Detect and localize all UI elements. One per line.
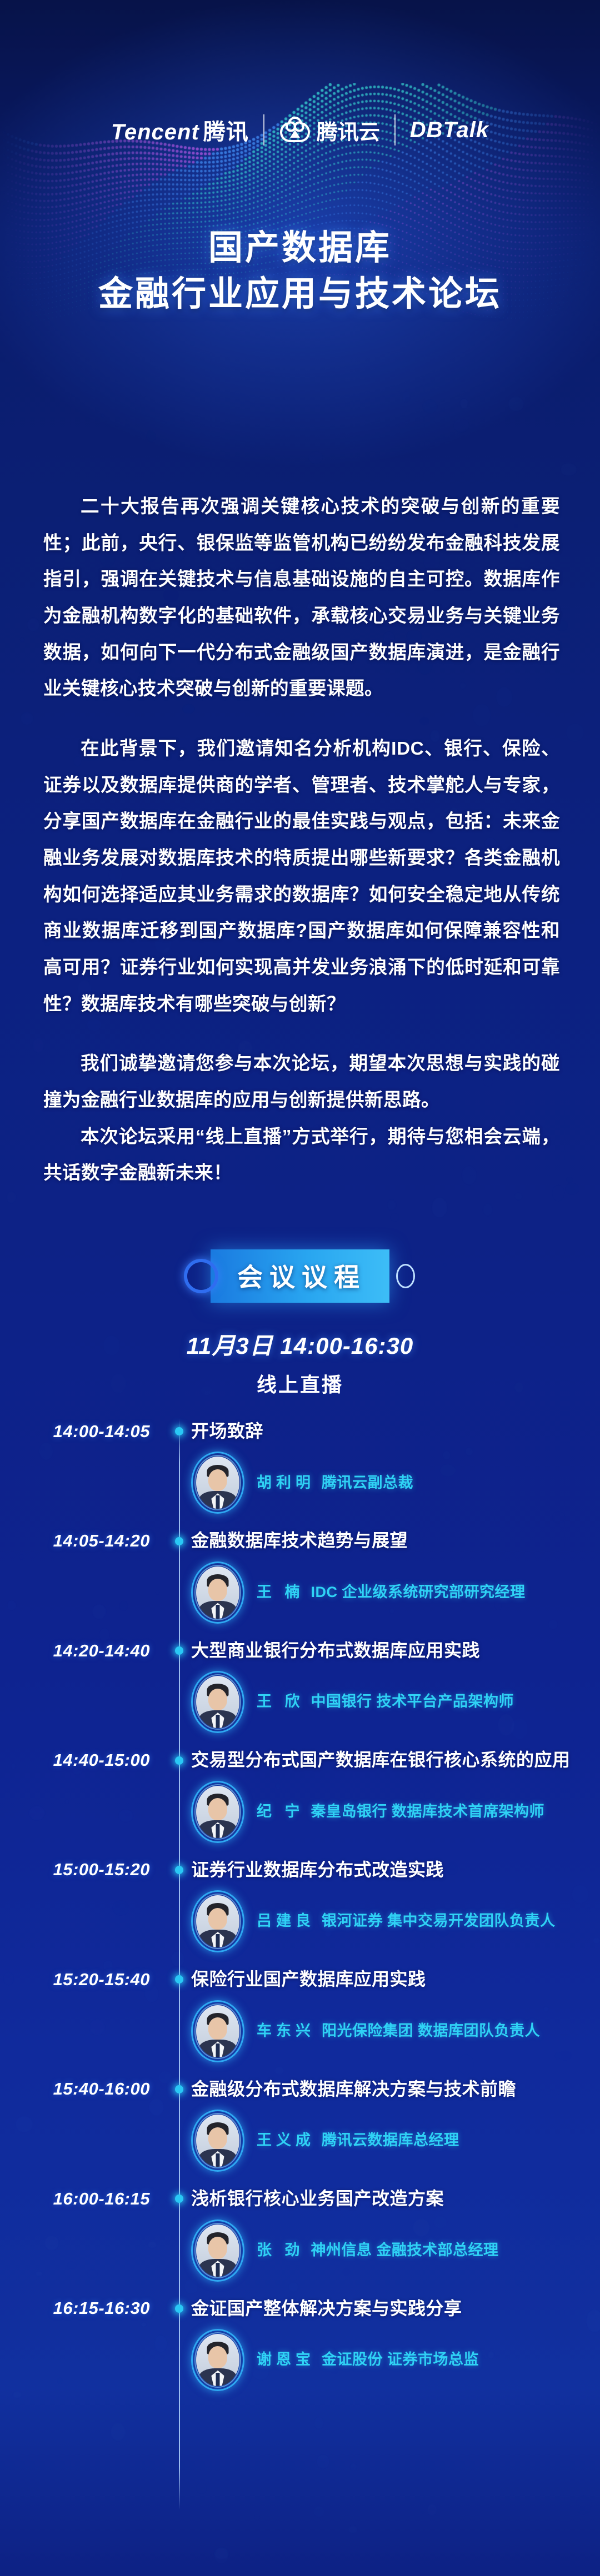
speaker-name: 王 楠 [257,1584,304,1600]
avatar [191,1561,244,1624]
session-list: 14:00-14:05开场致辞胡利明腾讯云副总裁14:05-14:20金融数据库… [0,1419,600,2406]
session-speaker-block: 纪 宁秦皇岛银行 数据库技术首席架构师 [0,1781,600,1857]
timeline-dot-icon [167,1646,191,1655]
speaker-role: IDC 企业级系统研究部研究经理 [311,1584,526,1600]
session-topic: 浅析银行核心业务国产改造方案 [191,2186,600,2211]
session-speaker-block: 王 欣中国银行 技术平台产品架构师 [0,1671,600,1748]
agenda-banner: 会议议程 [0,1249,600,1303]
speaker-role: 金证股份 证券市场总监 [322,2351,479,2368]
speaker-name: 谢恩宝 [257,2351,315,2368]
avatar [191,1781,244,1843]
agenda-session[interactable]: 14:40-15:00交易型分布式国产数据库在银行核心系统的应用纪 宁秦皇岛银行… [0,1748,600,1857]
timeline-dot-icon [167,2195,191,2203]
speaker-role: 阳光保险集团 数据库团队负责人 [322,2022,540,2039]
title-line-1: 国产数据库 [0,225,600,271]
avatar [191,1452,244,1514]
dbtalk-logo: DBTalk [410,118,489,143]
speaker-role: 腾讯云数据库总经理 [322,2132,459,2148]
timeline-dot-icon [167,2304,191,2313]
tencent-logo-cn: 腾讯 [203,120,249,144]
avatar [191,2000,244,2062]
agenda-session[interactable]: 15:20-15:40保险行业国产数据库应用实践车东兴阳光保险集团 数据库团队负… [0,1967,600,2076]
logo-divider-1 [263,114,264,145]
session-topic: 证券行业数据库分布式改造实践 [191,1857,600,1882]
session-time: 14:00-14:05 [0,1422,167,1442]
session-topic: 开场致辞 [191,1419,600,1444]
speaker-name: 车东兴 [257,2022,315,2039]
avatar [191,1890,244,1952]
timeline-dot-icon [167,2085,191,2093]
session-time: 15:00-15:20 [0,1860,167,1880]
session-time: 16:15-16:30 [0,2298,167,2318]
speaker-name: 张 劲 [257,2242,304,2258]
session-speaker-block: 吕建良银河证券 集中交易开发团队负责人 [0,1890,600,1967]
speaker-role: 腾讯云副总裁 [322,1474,413,1491]
ring-right-decoration [396,1264,415,1288]
intro-paragraph-4: 本次论坛采用“线上直播”方式举行，期待与您相会云端，共话数字金融新未来！ [43,1119,560,1192]
agenda-session[interactable]: 15:00-15:20证券行业数据库分布式改造实践吕建良银河证券 集中交易开发团… [0,1857,600,1967]
tencent-cloud-logo-label: 腾讯云 [317,115,380,145]
session-time: 15:20-15:40 [0,1970,167,1990]
session-speaker-block: 王义成腾讯云数据库总经理 [0,2110,600,2186]
title-line-2: 金融行业应用与技术论坛 [0,271,600,317]
avatar [191,2110,244,2172]
agenda-banner-plate: 会议议程 [211,1249,389,1303]
session-time: 16:00-16:15 [0,2189,167,2209]
agenda-date: 11月3日 14:00-16:30 [0,1327,600,1361]
session-topic: 金证国产整体解决方案与实践分享 [191,2296,600,2321]
speaker-role: 秦皇岛银行 数据库技术首席架构师 [311,1803,545,1820]
session-time: 14:40-15:00 [0,1750,167,1770]
session-speaker-block: 胡利明腾讯云副总裁 [0,1452,600,1528]
avatar [191,2329,244,2391]
avatar [191,1671,244,1733]
session-time: 15:40-16:00 [0,2079,167,2099]
intro-paragraph-1: 二十大报告再次强调关键核心技术的突破与创新的重要性；此前，央行、银保监等监管机构… [43,489,560,707]
speaker-name: 纪 宁 [257,1803,304,1820]
session-time: 14:05-14:20 [0,1531,167,1551]
avatar [191,2220,244,2282]
agenda-session[interactable]: 14:20-14:40大型商业银行分布式数据库应用实践王 欣中国银行 技术平台产… [0,1638,600,1748]
timeline-dot-icon [167,1427,191,1435]
timeline-dot-icon [167,1537,191,1545]
agenda-timeline: 14:00-14:05开场致辞胡利明腾讯云副总裁14:05-14:20金融数据库… [0,1419,600,2406]
session-topic: 大型商业银行分布式数据库应用实践 [191,1638,600,1663]
agenda-banner-label: 会议议程 [234,1263,366,1292]
session-speaker-block: 车东兴阳光保险集团 数据库团队负责人 [0,2000,600,2077]
tencent-logo: Tencent腾讯 [111,114,249,146]
agenda-mode: 线上直播 [0,1369,600,1398]
session-topic: 金融级分布式数据库解决方案与技术前瞻 [191,2077,600,2102]
agenda-session[interactable]: 16:00-16:15浅析银行核心业务国产改造方案张 劲神州信息 金融技术部总经… [0,2186,600,2296]
tencent-logo-latin: Tencent [111,120,199,144]
agenda-session[interactable]: 14:00-14:05开场致辞胡利明腾讯云副总裁 [0,1419,600,1528]
speaker-role: 中国银行 技术平台产品架构师 [311,1693,514,1710]
agenda-meta: 11月3日 14:00-16:30 线上直播 [0,1327,600,1398]
speaker-name: 胡利明 [257,1474,315,1491]
session-speaker-block: 谢恩宝金证股份 证券市场总监 [0,2329,600,2406]
speaker-name: 吕建良 [257,1912,315,1929]
logo-bar: Tencent腾讯 腾讯云 DBTalk [0,114,600,146]
poster-title: 国产数据库 金融行业应用与技术论坛 [0,225,600,317]
speaker-role: 银河证券 集中交易开发团队负责人 [322,1912,556,1929]
logo-divider-2 [394,114,396,145]
cloud-icon [279,116,311,144]
session-speaker-block: 张 劲神州信息 金融技术部总经理 [0,2220,600,2296]
timeline-dot-icon [167,1866,191,1874]
poster-root: Tencent腾讯 腾讯云 DBTalk 国产数据库 金融行业应用与技术论坛 二… [0,0,600,2576]
session-topic: 交易型分布式国产数据库在银行核心系统的应用 [191,1748,600,1772]
ring-left-decoration [184,1259,218,1293]
intro-copy: 二十大报告再次强调关键核心技术的突破与创新的重要性；此前，央行、银保监等监管机构… [43,489,560,1192]
session-time: 14:20-14:40 [0,1641,167,1661]
intro-paragraph-2: 在此背景下，我们邀请知名分析机构IDC、银行、保险、证券以及数据库提供商的学者、… [43,731,560,1022]
tencent-cloud-logo: 腾讯云 [279,115,380,145]
session-topic: 保险行业国产数据库应用实践 [191,1967,600,1992]
session-speaker-block: 王 楠IDC 企业级系统研究部研究经理 [0,1561,600,1638]
timeline-dot-icon [167,1756,191,1765]
session-topic: 金融数据库技术趋势与展望 [191,1528,600,1553]
speaker-role: 神州信息 金融技术部总经理 [311,2242,499,2258]
speaker-name: 王 欣 [257,1693,304,1710]
timeline-dot-icon [167,1975,191,1984]
agenda-session[interactable]: 16:15-16:30金证国产整体解决方案与实践分享谢恩宝金证股份 证券市场总监 [0,2296,600,2406]
agenda-session[interactable]: 15:40-16:00金融级分布式数据库解决方案与技术前瞻王义成腾讯云数据库总经… [0,2077,600,2186]
speaker-name: 王义成 [257,2132,315,2148]
intro-paragraph-3: 我们诚挚邀请您参与本次论坛，期望本次思想与实践的碰撞为金融行业数据库的应用与创新… [43,1046,560,1118]
agenda-session[interactable]: 14:05-14:20金融数据库技术趋势与展望王 楠IDC 企业级系统研究部研究… [0,1528,600,1638]
